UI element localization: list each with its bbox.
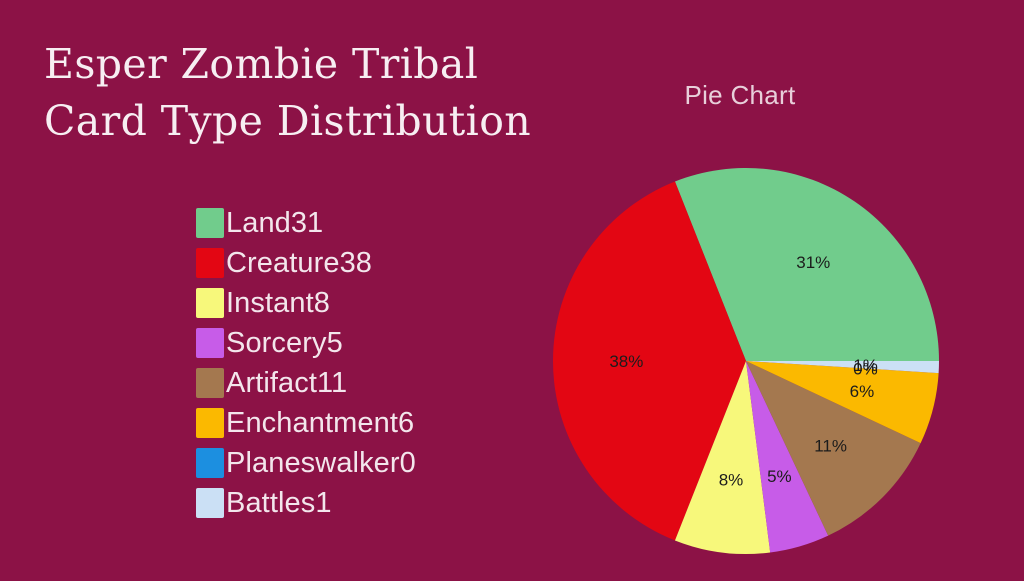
chart-canvas: Esper Zombie Tribal Card Type Distributi… (0, 0, 1024, 581)
legend-item-battles[interactable]: Battles1 (196, 483, 416, 523)
legend-item-label: Artifact (226, 367, 317, 400)
title-line-1: Esper Zombie Tribal (44, 36, 604, 93)
legend-item-sorcery[interactable]: Sorcery5 (196, 323, 416, 363)
legend-item-value: 11 (317, 367, 347, 400)
legend-swatch-icon (196, 248, 224, 278)
legend-swatch-icon (196, 328, 224, 358)
legend-item-label: Planeswalker (226, 447, 400, 480)
chart-heading: Pie Chart (640, 80, 840, 111)
legend-item-creature[interactable]: Creature38 (196, 243, 416, 283)
legend-item-label: Land (226, 207, 291, 240)
legend-item-instant[interactable]: Instant8 (196, 283, 416, 323)
pie-slice-label-battles: 1% (853, 356, 878, 375)
legend-item-planeswalker[interactable]: Planeswalker0 (196, 443, 416, 483)
legend-item-enchantment[interactable]: Enchantment6 (196, 403, 416, 443)
chart-legend: Land31Creature38Instant8Sorcery5Artifact… (196, 203, 416, 523)
pie-slice-label-sorcery: 5% (767, 467, 792, 486)
legend-item-label: Creature (226, 247, 340, 280)
pie-slice-label-artifact: 11% (814, 437, 847, 456)
legend-item-value: 31 (291, 207, 323, 240)
legend-swatch-icon (196, 408, 224, 438)
legend-item-land[interactable]: Land31 (196, 203, 416, 243)
pie-slice-label-land: 31% (796, 253, 830, 272)
legend-item-label: Enchantment (226, 407, 398, 440)
legend-item-label: Instant (226, 287, 314, 320)
legend-item-value: 0 (400, 447, 416, 480)
legend-item-label: Sorcery (226, 327, 327, 360)
pie-slice-label-instant: 8% (719, 471, 744, 490)
legend-item-value: 6 (398, 407, 414, 440)
legend-item-value: 8 (314, 287, 330, 320)
legend-swatch-icon (196, 368, 224, 398)
legend-swatch-icon (196, 488, 224, 518)
pie-slice-label-creature: 38% (609, 352, 643, 371)
pie-chart-svg: 31%38%8%5%11%6%0%1% (550, 165, 945, 560)
page-title: Esper Zombie Tribal Card Type Distributi… (44, 36, 604, 150)
legend-item-artifact[interactable]: Artifact11 (196, 363, 416, 403)
legend-swatch-icon (196, 448, 224, 478)
pie-chart: 31%38%8%5%11%6%0%1% (550, 165, 945, 560)
pie-slice-label-enchantment: 6% (850, 382, 875, 401)
legend-swatch-icon (196, 208, 224, 238)
legend-swatch-icon (196, 288, 224, 318)
legend-item-value: 5 (327, 327, 343, 360)
legend-item-label: Battles (226, 487, 315, 520)
legend-item-value: 1 (315, 487, 331, 520)
legend-item-value: 38 (340, 247, 372, 280)
title-line-2: Card Type Distribution (44, 93, 604, 150)
